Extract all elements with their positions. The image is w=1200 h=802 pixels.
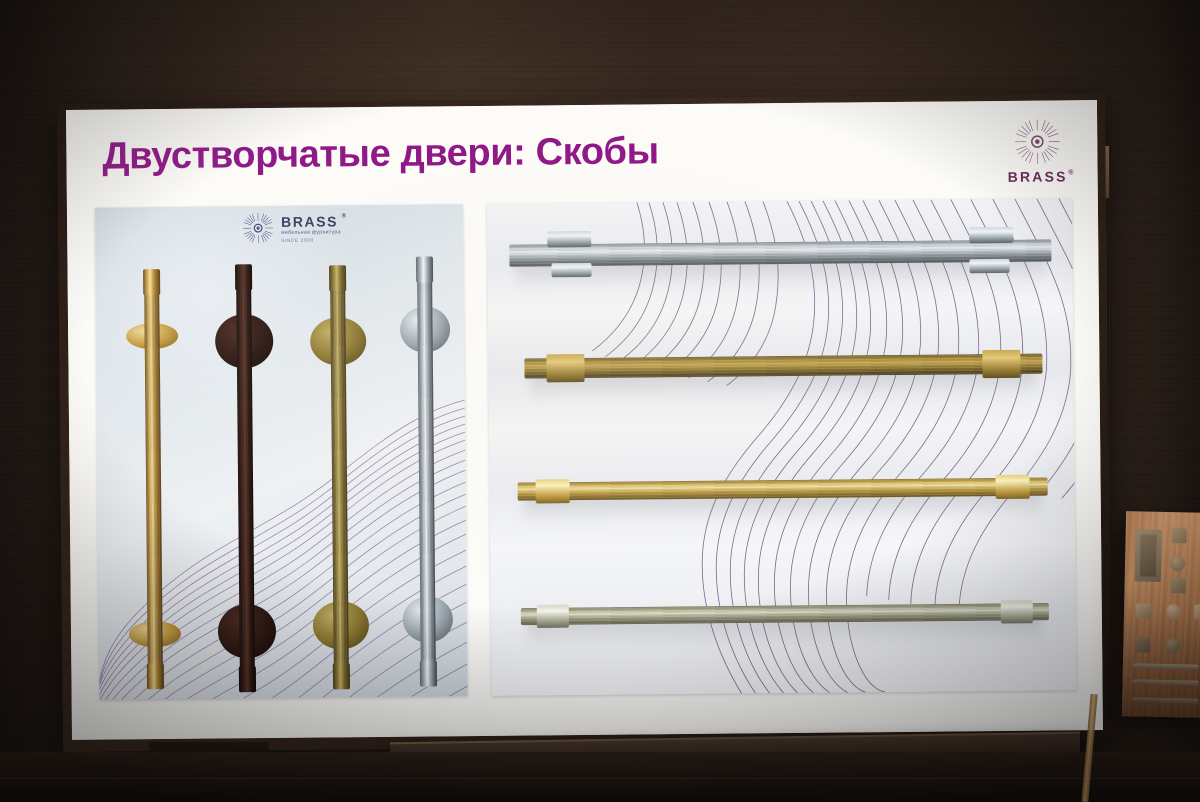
media-console [0,752,1200,802]
handle-cap-bottom [147,663,164,689]
photo-brand-tagline: мебельная фурнитура [281,230,341,236]
console-seam [0,778,1200,779]
photo-brand-name: BRASS® [281,214,341,229]
board-lighting [1122,511,1200,718]
hardware-display-board[interactable] [1122,511,1200,718]
vertical-handle-chrome [395,256,457,687]
horizontal-handle-nickel [521,597,1049,632]
mount-foot-left [551,263,591,277]
product-photo-left[interactable]: BRASS® мебельная фурнитура SINCE 2000 [95,204,468,700]
television[interactable]: Двустворчатые двери: Скобы [57,94,1111,752]
brand-logo: BRASS® [993,116,1082,203]
photo-brand-since: SINCE 2000 [281,239,341,244]
wall-seam-left [44,0,47,802]
handle-cap-top [143,269,160,295]
photo-brand-logo: BRASS® мебельная фурнитура SINCE 2000 [241,211,341,244]
presentation-slide: Двустворчатые двери: Скобы [66,100,1103,740]
handle-cap-top [416,256,433,282]
vertical-handle-gold [122,269,186,690]
horizontal-handle-antique-brass [524,347,1042,386]
handle-cap-bottom [333,663,350,689]
brand-name: BRASS® [1008,168,1068,185]
mount-bracket-right-top [969,227,1013,243]
horizontal-handle-chrome [509,229,1051,278]
horizontal-handle-polished-gold [518,471,1048,508]
sunburst-icon [1007,116,1067,167]
mount-bracket-left-top [547,231,591,247]
sunburst-icon [241,212,275,244]
tv-screen[interactable]: Двустворчатые двери: Скобы [66,100,1103,740]
collar-left [536,479,570,503]
handle-cap-top [329,265,346,291]
handle-cap-top [235,264,252,290]
collar-left [546,354,584,382]
vertical-handle-dark-bronze [213,264,277,693]
product-photo-right[interactable] [487,198,1077,696]
page-title: Двустворчатые двери: Скобы [102,130,659,178]
handle-cap-bottom [239,666,256,692]
collar-right [996,475,1030,499]
handle-bar [144,293,163,665]
registered-mark: ® [1068,169,1075,176]
mount-foot-right [969,259,1009,273]
registered-mark: ® [342,213,348,219]
collar-right [982,350,1020,378]
photo-brand-name-text: BRASS [281,213,338,230]
handle-cap-bottom [420,660,437,686]
brand-name-text: BRASS [1008,168,1068,185]
vertical-handle-antique-brass [307,265,371,690]
collar-right [1001,600,1033,623]
collar-left [537,605,569,628]
